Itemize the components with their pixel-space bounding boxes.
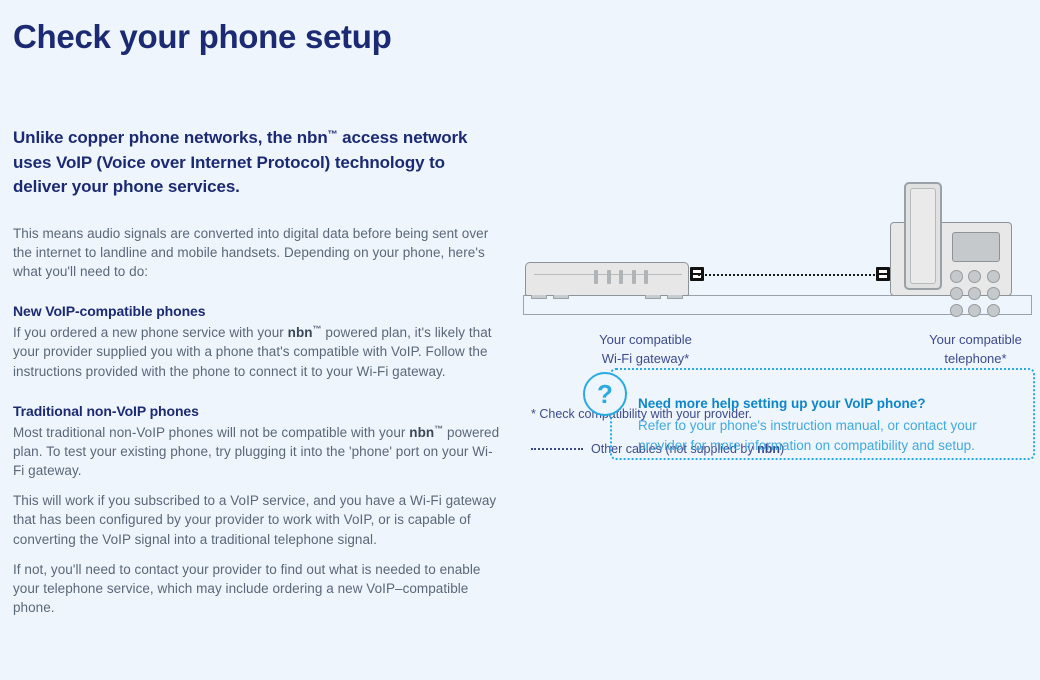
wifi-gateway-icon <box>525 258 689 296</box>
section-paragraph: This will work if you subscribed to a Vo… <box>13 491 503 548</box>
caption-telephone: Your compatible telephone* <box>883 331 1040 369</box>
section-paragraph: If you ordered a new phone service with … <box>13 323 503 380</box>
gateway-vents <box>594 270 648 284</box>
illustration-column: Your compatible Wi-Fi gateway* Your comp… <box>505 0 1040 680</box>
nbn-brand: nbn <box>409 425 434 440</box>
question-mark-icon: ? <box>583 372 627 416</box>
phone-setup-diagram <box>505 170 1040 315</box>
section-paragraph: Most traditional non-VoIP phones will no… <box>13 423 503 480</box>
help-callout-content: Need more help setting up your VoIP phon… <box>638 396 1028 455</box>
intro-paragraph: This means audio signals are converted i… <box>13 224 503 281</box>
trademark-symbol: ™ <box>434 424 443 434</box>
trademark-symbol: ™ <box>313 324 322 334</box>
telephone-icon <box>890 182 1012 296</box>
trademark-symbol: ™ <box>328 129 338 140</box>
caption-line-1: Your compatible <box>553 331 738 350</box>
gateway-feet <box>531 295 683 299</box>
help-callout-body: Refer to your phone's instruction manual… <box>638 416 1028 455</box>
phone-keypad <box>950 270 1002 318</box>
dotted-line-swatch <box>531 448 583 450</box>
section-heading-traditional: Traditional non-VoIP phones <box>13 403 503 419</box>
help-callout-title: Need more help setting up your VoIP phon… <box>638 396 1028 411</box>
section-heading-new-voip: New VoIP-compatible phones <box>13 303 503 319</box>
paragraph-part1: Most traditional non-VoIP phones will no… <box>13 425 409 440</box>
caption-line-2: telephone* <box>883 350 1040 369</box>
cable-plug-right-icon <box>876 267 890 281</box>
lede-part1: Unlike copper phone networks, the <box>13 128 297 147</box>
phone-display <box>952 232 1000 262</box>
caption-line-1: Your compatible <box>883 331 1040 350</box>
lede-paragraph: Unlike copper phone networks, the nbn™ a… <box>13 126 503 200</box>
page-root: Check your phone setup Unlike copper pho… <box>0 0 1040 680</box>
gateway-body <box>525 262 689 296</box>
paragraph-part1: If you ordered a new phone service with … <box>13 325 288 340</box>
content-column: Check your phone setup Unlike copper pho… <box>13 0 503 617</box>
caption-line-2: Wi-Fi gateway* <box>553 350 738 369</box>
section-paragraph: If not, you'll need to contact your prov… <box>13 560 503 617</box>
caption-wifi-gateway: Your compatible Wi-Fi gateway* <box>553 331 738 369</box>
phone-handset <box>904 182 942 290</box>
dotted-cable-line <box>698 274 890 276</box>
nbn-brand: nbn <box>297 128 328 147</box>
page-title: Check your phone setup <box>13 18 503 56</box>
nbn-brand: nbn <box>288 325 313 340</box>
